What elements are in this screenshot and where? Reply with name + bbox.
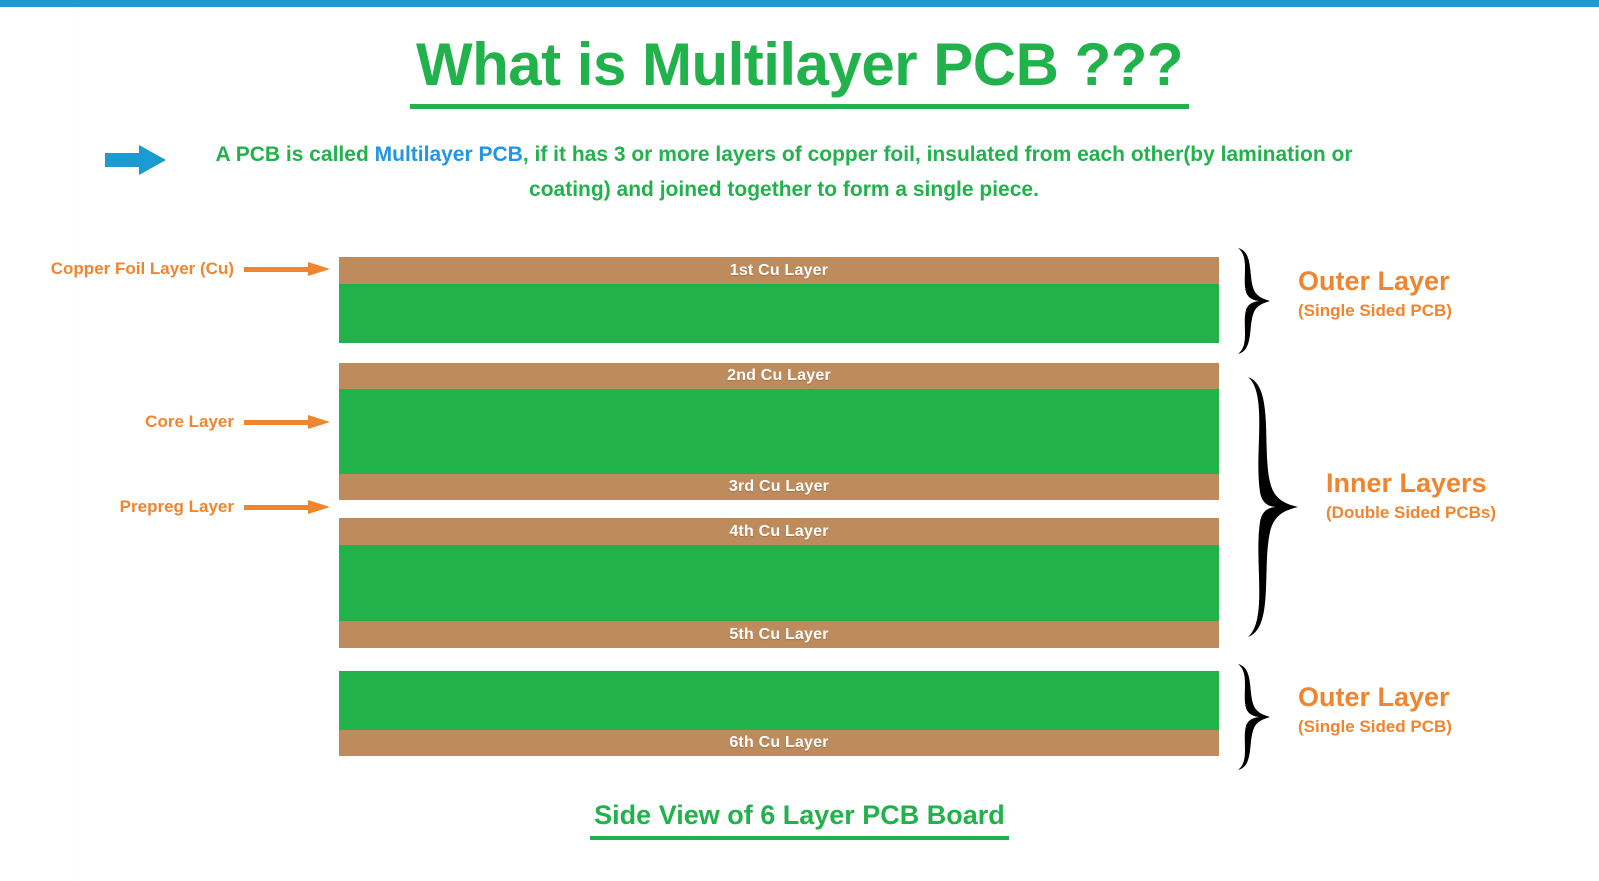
callout-copper-foil-layer: Copper Foil Layer (Cu) — [0, 256, 330, 282]
annotation-outer-layer-bottom: Outer Layer (Single Sided PCB) — [1232, 662, 1592, 772]
pcb-layer-5th-cu: 5th Cu Layer — [339, 621, 1219, 648]
callout-label: Prepreg Layer — [120, 497, 234, 517]
orange-right-arrow-icon — [244, 500, 330, 514]
curly-brace-icon — [1240, 374, 1312, 640]
page-title-container: What is Multilayer PCB ??? — [0, 33, 1599, 109]
annotation-subtitle: (Single Sided PCB) — [1298, 717, 1452, 737]
pcb-layer-label: 6th Cu Layer — [339, 734, 1219, 752]
curly-brace-icon — [1232, 662, 1292, 772]
curly-brace-icon — [1232, 246, 1292, 356]
pcb-layer-1st-cu: 1st Cu Layer — [339, 257, 1219, 284]
pcb-layer-core-bottom — [339, 671, 1219, 730]
annotation-subtitle: (Single Sided PCB) — [1298, 301, 1452, 321]
annotation-title: Outer Layer — [1298, 682, 1452, 713]
annotation-inner-layers: Inner Layers (Double Sided PCBs) — [1240, 374, 1599, 640]
pcb-layer-core-upper — [339, 389, 1219, 474]
pcb-layer-label: 1st Cu Layer — [339, 262, 1219, 280]
pcb-group-inner-lower: 4th Cu Layer 5th Cu Layer — [339, 518, 1219, 648]
orange-right-arrow-icon — [244, 262, 330, 276]
pcb-group-inner-upper: 2nd Cu Layer 3rd Cu Layer — [339, 363, 1219, 500]
left-edge-seam — [75, 7, 76, 881]
caption-container: Side View of 6 Layer PCB Board — [0, 800, 1599, 840]
annotation-text: Outer Layer (Single Sided PCB) — [1298, 266, 1452, 321]
annotation-text: Inner Layers (Double Sided PCBs) — [1326, 468, 1496, 523]
diagram-caption: Side View of 6 Layer PCB Board — [590, 800, 1009, 840]
annotation-subtitle: (Double Sided PCBs) — [1326, 503, 1496, 523]
callout-core-layer: Core Layer — [0, 409, 330, 435]
pcb-layer-label: 5th Cu Layer — [339, 626, 1219, 644]
annotation-title: Inner Layers — [1326, 468, 1496, 499]
top-accent-bar — [0, 0, 1599, 7]
annotation-outer-layer-top: Outer Layer (Single Sided PCB) — [1232, 246, 1592, 356]
blue-right-arrow-icon — [105, 144, 167, 176]
annotation-title: Outer Layer — [1298, 266, 1452, 297]
pcb-layer-core-top — [339, 284, 1219, 343]
pcb-layer-core-lower — [339, 545, 1219, 621]
callout-prepreg-layer: Prepreg Layer — [0, 494, 330, 520]
pcb-layer-6th-cu: 6th Cu Layer — [339, 730, 1219, 756]
intro-text: A PCB is called Multilayer PCB, if it ha… — [175, 138, 1393, 207]
pcb-group-bottom-outer: 6th Cu Layer — [339, 671, 1219, 756]
intro-text-highlight: Multilayer PCB — [375, 143, 523, 166]
intro-text-part1: A PCB is called — [216, 143, 375, 166]
annotation-text: Outer Layer (Single Sided PCB) — [1298, 682, 1452, 737]
pcb-layer-4th-cu: 4th Cu Layer — [339, 518, 1219, 545]
intro-text-part2: , if it has 3 or more layers of copper f… — [523, 143, 1353, 201]
callout-label: Copper Foil Layer (Cu) — [51, 259, 234, 279]
orange-right-arrow-icon — [244, 415, 330, 429]
callout-label: Core Layer — [145, 412, 234, 432]
page-title: What is Multilayer PCB ??? — [410, 33, 1189, 109]
pcb-layer-label: 3rd Cu Layer — [339, 478, 1219, 496]
pcb-layer-2nd-cu: 2nd Cu Layer — [339, 363, 1219, 389]
pcb-layer-3rd-cu: 3rd Cu Layer — [339, 474, 1219, 500]
pcb-group-top-outer: 1st Cu Layer — [339, 257, 1219, 343]
slide-canvas: What is Multilayer PCB ??? A PCB is call… — [0, 0, 1599, 881]
intro-block: A PCB is called Multilayer PCB, if it ha… — [105, 138, 1435, 207]
pcb-layer-label: 4th Cu Layer — [339, 523, 1219, 541]
pcb-layer-label: 2nd Cu Layer — [339, 367, 1219, 385]
